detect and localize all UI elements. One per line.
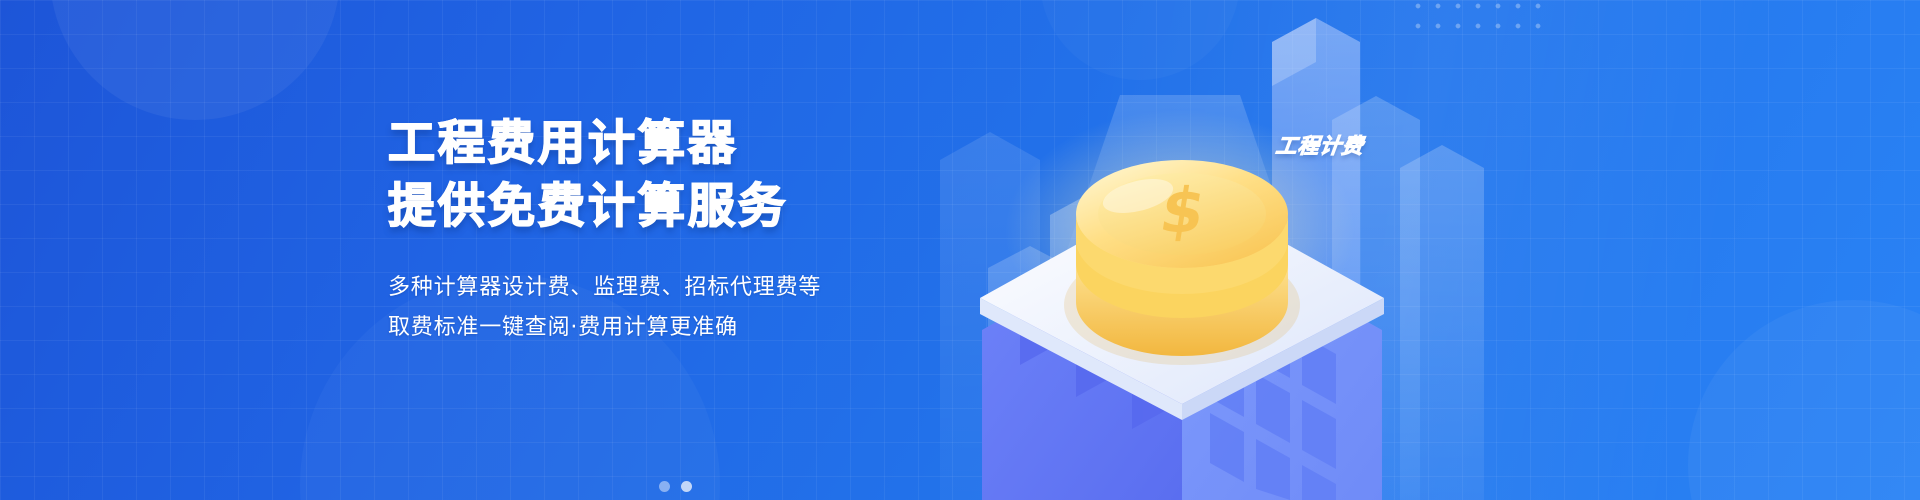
platform-edge-right xyxy=(1182,298,1384,420)
building-windows-left xyxy=(1020,279,1170,429)
coin-middle-side xyxy=(1076,234,1288,318)
banner-subtitle: 多种计算器设计费、监理费、招标代理费等 取费标准一键查阅·费用计算更准确 xyxy=(388,268,1008,348)
coin-top-face xyxy=(1076,160,1288,268)
subtitle-line-1: 多种计算器设计费、监理费、招标代理费等 xyxy=(388,268,1008,308)
carousel-dot-2[interactable] xyxy=(681,481,692,492)
hero-banner: $ 工程计费 工程费用计算器 提供免费计算服务 多种计算器设计费、监理费、招标代… xyxy=(0,0,1920,500)
coin-highlight xyxy=(1099,173,1176,220)
coin-middle-top xyxy=(1076,180,1288,288)
platform-top xyxy=(980,186,1384,404)
bar-decor-left xyxy=(1050,190,1142,500)
banner-copy-block: 工程费用计算器 提供免费计算服务 多种计算器设计费、监理费、招标代理费等 取费标… xyxy=(388,112,1008,348)
dot-matrix-pattern-icon xyxy=(1408,0,1548,30)
carousel-dot-1[interactable] xyxy=(659,481,670,492)
engineering-fee-illustration: $ xyxy=(880,0,1920,500)
coin-inner-ring xyxy=(1098,173,1266,255)
decorative-circle-top-center xyxy=(1040,0,1240,80)
headline-line-2: 提供免费计算服务 xyxy=(388,175,1008,238)
headline-line-1: 工程费用计算器 xyxy=(388,112,1008,175)
bar-decor-right-tall xyxy=(1272,18,1360,500)
illustration-badge-label: 工程计费 xyxy=(1274,130,1366,160)
bar-decor-right-short xyxy=(1400,145,1484,500)
light-shaft xyxy=(1050,95,1310,300)
decorative-circle-top-left xyxy=(50,0,340,120)
coin-top-side xyxy=(1076,214,1288,294)
coin-shadow xyxy=(1064,245,1300,365)
decorative-circle-bottom-right xyxy=(1688,300,1920,500)
carousel-indicators[interactable] xyxy=(659,481,692,492)
platform-edge-left xyxy=(980,298,1182,420)
building-windows-right xyxy=(1210,283,1336,500)
dollar-sign-icon: $ xyxy=(1155,174,1210,247)
coin-stack: $ xyxy=(1064,160,1300,365)
isometric-building xyxy=(980,186,1384,500)
subtitle-line-2: 取费标准一键查阅·费用计算更准确 xyxy=(388,308,1008,348)
banner-headline: 工程费用计算器 提供免费计算服务 xyxy=(388,112,1008,238)
coin-bottom-side xyxy=(1076,250,1288,356)
